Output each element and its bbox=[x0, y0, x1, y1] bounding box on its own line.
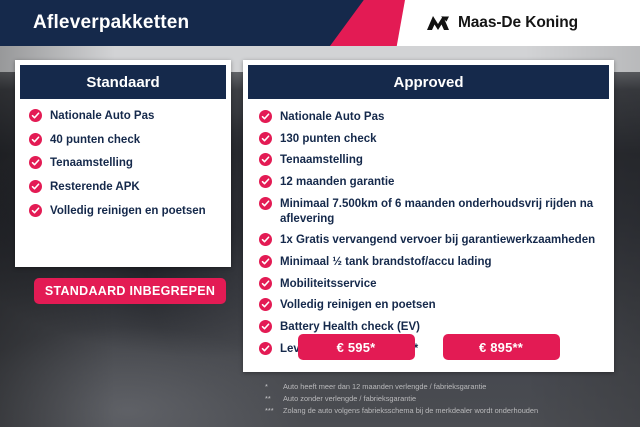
footnotes: * Auto heeft meer dan 12 maanden verleng… bbox=[265, 381, 625, 417]
list-item: Minimaal ½ tank brandstof/accu lading bbox=[259, 255, 600, 270]
brand-name: Maas-De Koning bbox=[458, 14, 578, 32]
feature-label: Minimaal ½ tank brandstof/accu lading bbox=[280, 255, 492, 270]
list-item: 1x Gratis vervangend vervoer bij garanti… bbox=[259, 233, 600, 248]
footnote-marker: * bbox=[265, 381, 283, 393]
check-circle-icon bbox=[259, 153, 272, 166]
list-item: 12 maanden garantie bbox=[259, 175, 600, 190]
feature-label: Tenaamstelling bbox=[280, 153, 363, 168]
list-item: Tenaamstelling bbox=[259, 153, 600, 168]
check-circle-icon bbox=[29, 133, 42, 146]
price-button-895[interactable]: € 895** bbox=[443, 334, 560, 360]
card-standaard-body: Nationale Auto Pas 40 punten check Tenaa… bbox=[15, 99, 231, 219]
footnote-marker: ** bbox=[265, 393, 283, 405]
feature-label: Minimaal 7.500km of 6 maanden onderhouds… bbox=[280, 197, 600, 226]
check-circle-icon bbox=[29, 156, 42, 169]
list-item: Mobiliteitsservice bbox=[259, 277, 600, 292]
feature-label: 130 punten check bbox=[280, 132, 377, 147]
footnote-row: ** Auto zonder verlengde / fabrieksgaran… bbox=[265, 393, 625, 405]
check-circle-icon bbox=[259, 175, 272, 188]
page-header: Afleverpakketten Maas-De Koning bbox=[0, 0, 640, 46]
feature-label: Nationale Auto Pas bbox=[280, 110, 384, 125]
standaard-inbegrepen-button[interactable]: STANDAARD INBEGREPEN bbox=[34, 278, 226, 304]
card-approved-body: Nationale Auto Pas 130 punten check Tena… bbox=[243, 99, 614, 357]
footnote-row: *** Zolang de auto volgens fabrieksschem… bbox=[265, 405, 625, 417]
list-item: 130 punten check bbox=[259, 132, 600, 147]
list-item: Minimaal 7.500km of 6 maanden onderhouds… bbox=[259, 197, 600, 226]
page-title: Afleverpakketten bbox=[33, 0, 189, 46]
card-approved: Approved Nationale Auto Pas 130 punten c… bbox=[243, 60, 614, 372]
list-item: 40 punten check bbox=[29, 133, 219, 148]
feature-label: Battery Health check (EV) bbox=[280, 320, 420, 335]
feature-label: Nationale Auto Pas bbox=[50, 109, 154, 124]
price-button-595[interactable]: € 595* bbox=[298, 334, 415, 360]
check-circle-icon bbox=[259, 132, 272, 145]
check-circle-icon bbox=[259, 277, 272, 290]
check-circle-icon bbox=[259, 298, 272, 311]
card-standaard: Standaard Nationale Auto Pas 40 punten c… bbox=[15, 60, 231, 267]
footnote-marker: *** bbox=[265, 405, 283, 417]
standaard-feature-list: Nationale Auto Pas 40 punten check Tenaa… bbox=[29, 109, 219, 219]
footnote-row: * Auto heeft meer dan 12 maanden verleng… bbox=[265, 381, 625, 393]
feature-label: 1x Gratis vervangend vervoer bij garanti… bbox=[280, 233, 595, 248]
list-item: Battery Health check (EV) bbox=[259, 320, 600, 335]
check-circle-icon bbox=[259, 233, 272, 246]
check-circle-icon bbox=[29, 180, 42, 193]
approved-feature-list: Nationale Auto Pas 130 punten check Tena… bbox=[259, 110, 600, 357]
feature-label: Mobiliteitsservice bbox=[280, 277, 377, 292]
check-circle-icon bbox=[29, 204, 42, 217]
list-item: Volledig reinigen en poetsen bbox=[29, 204, 219, 219]
maas-de-koning-m-logo-icon bbox=[426, 15, 450, 31]
page-root: Afleverpakketten Maas-De Koning Standaar… bbox=[0, 0, 640, 427]
feature-label: Volledig reinigen en poetsen bbox=[50, 204, 206, 219]
card-approved-title: Approved bbox=[248, 65, 609, 99]
list-item: Nationale Auto Pas bbox=[259, 110, 600, 125]
feature-label: Resterende APK bbox=[50, 180, 140, 195]
list-item: Nationale Auto Pas bbox=[29, 109, 219, 124]
check-circle-icon bbox=[259, 110, 272, 123]
check-circle-icon bbox=[259, 320, 272, 333]
list-item: Tenaamstelling bbox=[29, 156, 219, 171]
feature-label: Volledig reinigen en poetsen bbox=[280, 298, 436, 313]
check-circle-icon bbox=[259, 255, 272, 268]
approved-price-row: € 595* € 895** bbox=[243, 334, 614, 360]
card-standaard-title: Standaard bbox=[20, 65, 226, 99]
list-item: Resterende APK bbox=[29, 180, 219, 195]
feature-label: 40 punten check bbox=[50, 133, 140, 148]
footnote-text: Auto zonder verlengde / fabrieksgarantie bbox=[283, 393, 625, 405]
list-item: Volledig reinigen en poetsen bbox=[259, 298, 600, 313]
check-circle-icon bbox=[29, 109, 42, 122]
feature-label: 12 maanden garantie bbox=[280, 175, 394, 190]
footnote-text: Auto heeft meer dan 12 maanden verlengde… bbox=[283, 381, 625, 393]
footnote-text: Zolang de auto volgens fabrieksschema bi… bbox=[283, 405, 625, 417]
feature-label: Tenaamstelling bbox=[50, 156, 133, 171]
check-circle-icon bbox=[259, 197, 272, 210]
brand-logo: Maas-De Koning bbox=[426, 0, 578, 46]
